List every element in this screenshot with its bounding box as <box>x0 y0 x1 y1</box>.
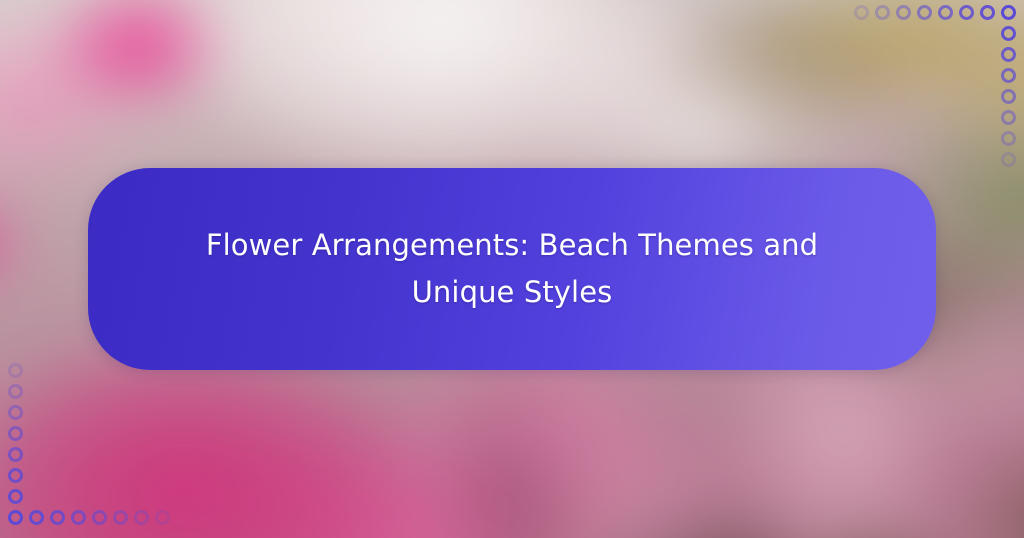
banner-stage: Flower Arrangements: Beach Themes and Un… <box>0 0 1024 538</box>
page-title: Flower Arrangements: Beach Themes and Un… <box>192 222 832 316</box>
hero-banner[interactable]: Flower Arrangements: Beach Themes and Un… <box>88 168 936 370</box>
